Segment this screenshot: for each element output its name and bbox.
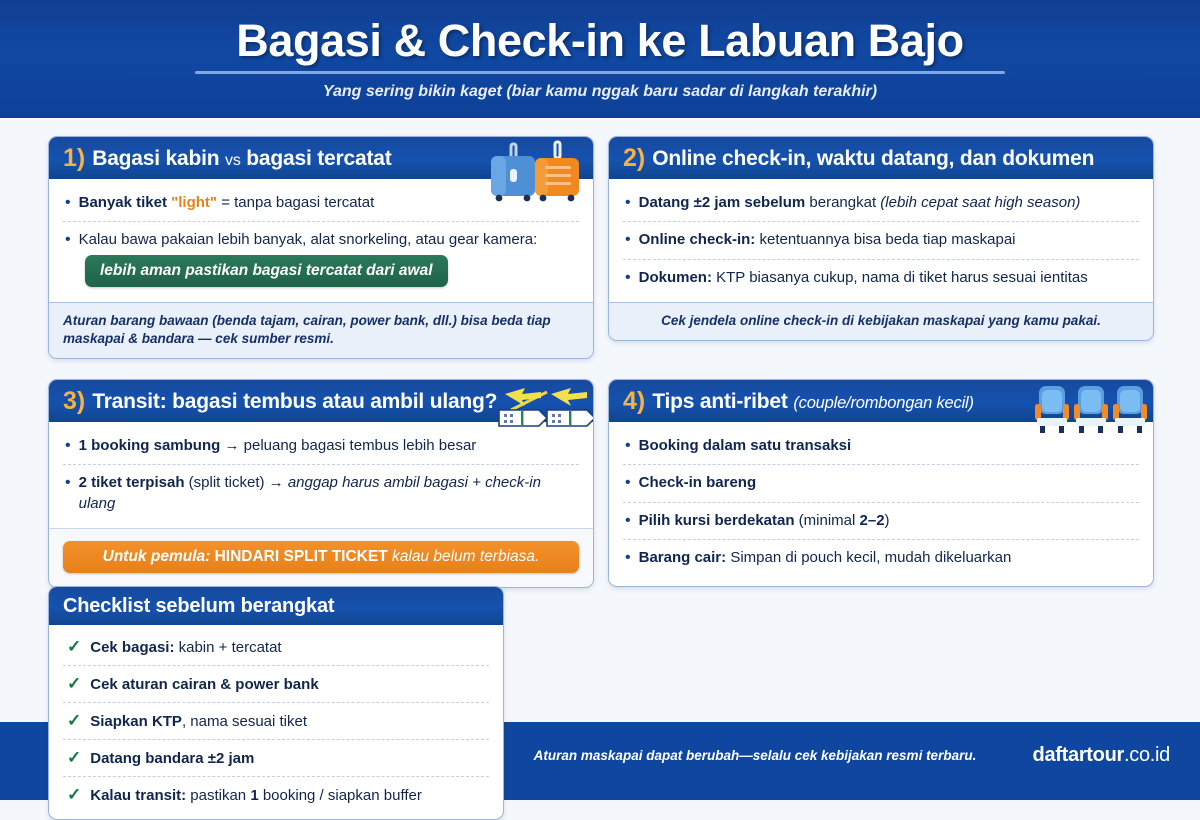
card-3-callout-caps: HINDARI SPLIT TICKET xyxy=(210,548,392,565)
checklist-item-normal: , nama sesuai tiket xyxy=(182,713,307,730)
card-4-row-1: • Booking dalam satu transaksi xyxy=(623,428,1139,465)
card-3-callout-lead: Untuk pemula: xyxy=(103,548,211,565)
bullet-dot: • xyxy=(65,436,71,456)
checklist-item-text: Cek aturan cairan & power bank xyxy=(90,676,318,693)
checklist-item-text: Datang bandara ±2 jam xyxy=(90,750,254,767)
card-1-body: • Banyak tiket "light" = tanpa bagasi te… xyxy=(49,179,593,302)
card-4-row-3-bold2: 2–2 xyxy=(860,512,885,529)
card-2-row-1-text: Datang ±2 jam sebelum berangkat (lebih c… xyxy=(639,193,1081,213)
check-icon: ✓ xyxy=(67,711,81,731)
card-2-row-2-normal: ketentuannya bisa beda tiap maskapai xyxy=(755,231,1015,248)
checklist-item-bold: Kalau transit: xyxy=(90,787,186,804)
card-4-row-2: • Check-in bareng xyxy=(623,465,1139,502)
bullet-dot: • xyxy=(65,473,71,493)
bullet-dot: • xyxy=(625,230,631,250)
brand-tld: .co.id xyxy=(1124,744,1170,766)
bullet-dot: • xyxy=(65,193,71,213)
card-3-body: • 1 booking sambung → peluang bagasi tem… xyxy=(49,422,593,528)
checklist-item[interactable]: ✓ Cek bagasi: kabin + tercatat xyxy=(63,629,489,666)
card-2-row-3-normal: KTP biasanya cukup, nama di tiket harus … xyxy=(712,269,1088,286)
page-header: Bagasi & Check-in ke Labuan Bajo Yang se… xyxy=(0,0,1200,118)
card-3-row-2-bold: 2 tiket terpisah xyxy=(79,474,185,491)
card-4-row-4-bold: Barang cair: xyxy=(639,549,727,566)
card-1-title-b: bagasi tercatat xyxy=(246,147,391,170)
card-1-note: Aturan barang bawaan (benda tajam, caira… xyxy=(49,302,593,359)
card-3-row-1-normal: → peluang bagasi tembus lebih besar xyxy=(220,437,476,454)
checklist-item-text: Kalau transit: pastikan 1 booking / siap… xyxy=(90,787,422,804)
bullet-dot: • xyxy=(625,268,631,288)
checklist-item[interactable]: ✓ Datang bandara ±2 jam xyxy=(63,740,489,777)
card-4-row-3-normal: (minimal xyxy=(795,512,860,529)
checklist-item-normal: kabin + tercatat xyxy=(174,639,281,656)
card-3-row-2: • 2 tiket terpisah (split ticket) → angg… xyxy=(63,465,579,522)
card-4-row-4: • Barang cair: Simpan di pouch kecil, mu… xyxy=(623,540,1139,576)
page-title: Bagasi & Check-in ke Labuan Bajo xyxy=(236,17,963,64)
card-1-row-1-highlight: "light" xyxy=(171,194,217,211)
card-4-number: 4) xyxy=(623,389,645,414)
card-2-number: 2) xyxy=(623,146,645,171)
card-2-row-2: • Online check-in: ketentuannya bisa bed… xyxy=(623,222,1139,259)
card-3-header: 3) Transit: bagasi tembus atau ambil ula… xyxy=(49,380,593,422)
card-1-row-2-text: Kalau bawa pakaian lebih banyak, alat sn… xyxy=(79,230,538,250)
card-4-row-3-text: Pilih kursi berdekatan (minimal 2–2) xyxy=(639,511,890,531)
check-icon: ✓ xyxy=(67,748,81,768)
card-transit: 3) Transit: bagasi tembus atau ambil ula… xyxy=(48,379,594,588)
card-3-row-1-bold: 1 booking sambung xyxy=(79,437,221,454)
card-2-row-1-italic: (lebih cepat saat high season) xyxy=(880,194,1080,211)
card-4-title: Tips anti-ribet (couple/rombongan kecil) xyxy=(652,391,974,412)
bullet-dot: • xyxy=(625,548,631,568)
checklist-item-text: Cek bagasi: kabin + tercatat xyxy=(90,639,281,656)
card-2-row-3-text: Dokumen: KTP biasanya cukup, nama di tik… xyxy=(639,268,1088,288)
card-3-row-2-normal: (split ticket) → xyxy=(184,474,287,491)
checklist-item[interactable]: ✓ Kalau transit: pastikan 1 booking / si… xyxy=(63,777,489,813)
card-1-number: 1) xyxy=(63,146,85,171)
card-2-row-3: • Dokumen: KTP biasanya cukup, nama di t… xyxy=(623,260,1139,296)
card-2-row-1-normal: berangkat xyxy=(805,194,880,211)
card-4-header: 4) Tips anti-ribet (couple/rombongan kec… xyxy=(609,380,1153,422)
check-icon: ✓ xyxy=(67,674,81,694)
page-subtitle: Yang sering bikin kaget (biar kamu nggak… xyxy=(323,83,877,101)
title-underline xyxy=(195,71,1005,74)
card-2-row-1: • Datang ±2 jam sebelum berangkat (lebih… xyxy=(623,185,1139,222)
card-2-row-1-bold: Datang ±2 jam sebelum xyxy=(639,194,806,211)
card-2-title: Online check-in, waktu datang, dan dokum… xyxy=(652,148,1094,169)
card-4-row-1-text: Booking dalam satu transaksi xyxy=(639,436,852,456)
card-3-callout-wrap: Untuk pemula: HINDARI SPLIT TICKET kalau… xyxy=(49,528,593,587)
checklist-item-text: Siapkan KTP, nama sesuai tiket xyxy=(90,713,307,730)
card-3-row-1-text: 1 booking sambung → peluang bagasi tembu… xyxy=(79,436,477,456)
card-4-row-3-bold: Pilih kursi berdekatan xyxy=(639,512,795,529)
card-1-row-1-pre: Banyak tiket xyxy=(79,194,172,211)
card-1-title-vs: vs xyxy=(225,152,241,169)
card-bagasi-kabin: 1) Bagasi kabin vs bagasi tercatat • xyxy=(48,136,594,359)
card-1-title-a: Bagasi kabin xyxy=(92,147,219,170)
checklist-item-bold2: 1 xyxy=(250,787,258,804)
card-2-row-2-bold: Online check-in: xyxy=(639,231,756,248)
card-2-note: Cek jendela online check-in di kebijakan… xyxy=(609,302,1153,340)
card-2-header: 2) Online check-in, waktu datang, dan do… xyxy=(609,137,1153,179)
check-icon: ✓ xyxy=(67,637,81,657)
card-4-row-3: • Pilih kursi berdekatan (minimal 2–2) xyxy=(623,503,1139,540)
card-1-row-2: • Kalau bawa pakaian lebih banyak, alat … xyxy=(63,222,579,252)
card-3-row-1: • 1 booking sambung → peluang bagasi tem… xyxy=(63,428,579,465)
check-icon: ✓ xyxy=(67,785,81,805)
card-4-body: • Booking dalam satu transaksi • Check-i… xyxy=(609,422,1153,586)
card-2-row-2-text: Online check-in: ketentuannya bisa beda … xyxy=(639,230,1016,250)
bullet-dot: • xyxy=(65,230,71,250)
card-4-title-sub: (couple/rombongan kecil) xyxy=(793,394,973,412)
checklist-item[interactable]: ✓ Cek aturan cairan & power bank xyxy=(63,666,489,703)
card-4-row-4-normal: Simpan di pouch kecil, mudah dikeluarkan xyxy=(726,549,1011,566)
checklist-item-normal: pastikan xyxy=(186,787,250,804)
card-checklist: Checklist sebelum berangkat ✓ Cek bagasi… xyxy=(48,586,504,820)
card-3-title: Transit: bagasi tembus atau ambil ulang? xyxy=(92,391,497,412)
card-4-row-4-text: Barang cair: Simpan di pouch kecil, muda… xyxy=(639,548,1012,568)
card-tips-anti-ribet: 4) Tips anti-ribet (couple/rombongan kec… xyxy=(608,379,1154,587)
checklist-title: Checklist sebelum berangkat xyxy=(63,596,334,616)
checklist-item-bold: Cek bagasi: xyxy=(90,639,174,656)
card-4-title-main: Tips anti-ribet xyxy=(652,390,787,413)
card-2-row-3-bold: Dokumen: xyxy=(639,269,712,286)
card-3-callout: Untuk pemula: HINDARI SPLIT TICKET kalau… xyxy=(63,541,579,573)
card-4-row-3-normal2: ) xyxy=(885,512,890,529)
bullet-dot: • xyxy=(625,436,631,456)
footer-disclaimer: Aturan maskapai dapat berubah—selalu cek… xyxy=(520,748,990,763)
card-1-callout: lebih aman pastikan bagasi tercatat dari… xyxy=(85,255,448,287)
card-1-row-1-post: = tanpa bagasi tercatat xyxy=(217,194,374,211)
brand-logo: daftartour.co.id xyxy=(1033,744,1170,767)
checklist-item-normal2: booking / siapkan buffer xyxy=(259,787,422,804)
card-1-header: 1) Bagasi kabin vs bagasi tercatat xyxy=(49,137,593,179)
card-online-checkin: 2) Online check-in, waktu datang, dan do… xyxy=(608,136,1154,341)
checklist-item[interactable]: ✓ Siapkan KTP, nama sesuai tiket xyxy=(63,703,489,740)
checklist-item-bold: Cek aturan cairan & power bank xyxy=(90,676,318,693)
card-3-row-2-text: 2 tiket terpisah (split ticket) → anggap… xyxy=(79,473,577,514)
checklist-body: ✓ Cek bagasi: kabin + tercatat ✓ Cek atu… xyxy=(49,625,503,819)
card-2-body: • Datang ±2 jam sebelum berangkat (lebih… xyxy=(609,179,1153,302)
brand-name: daftartour xyxy=(1033,744,1124,766)
card-1-row-1-text: Banyak tiket "light" = tanpa bagasi terc… xyxy=(79,193,375,213)
bullet-dot: • xyxy=(625,473,631,493)
card-1-row-1: • Banyak tiket "light" = tanpa bagasi te… xyxy=(63,185,579,222)
card-3-callout-tail: kalau belum terbiasa. xyxy=(392,548,539,565)
checklist-item-bold: Datang bandara ±2 jam xyxy=(90,750,254,767)
checklist-header: Checklist sebelum berangkat xyxy=(49,587,503,625)
card-1-callout-wrap: lebih aman pastikan bagasi tercatat dari… xyxy=(63,253,579,296)
bullet-dot: • xyxy=(625,511,631,531)
bullet-dot: • xyxy=(625,193,631,213)
card-3-number: 3) xyxy=(63,389,85,414)
checklist-item-bold: Siapkan KTP xyxy=(90,713,182,730)
card-1-title: Bagasi kabin vs bagasi tercatat xyxy=(92,148,391,169)
card-4-row-2-text: Check-in bareng xyxy=(639,473,757,493)
